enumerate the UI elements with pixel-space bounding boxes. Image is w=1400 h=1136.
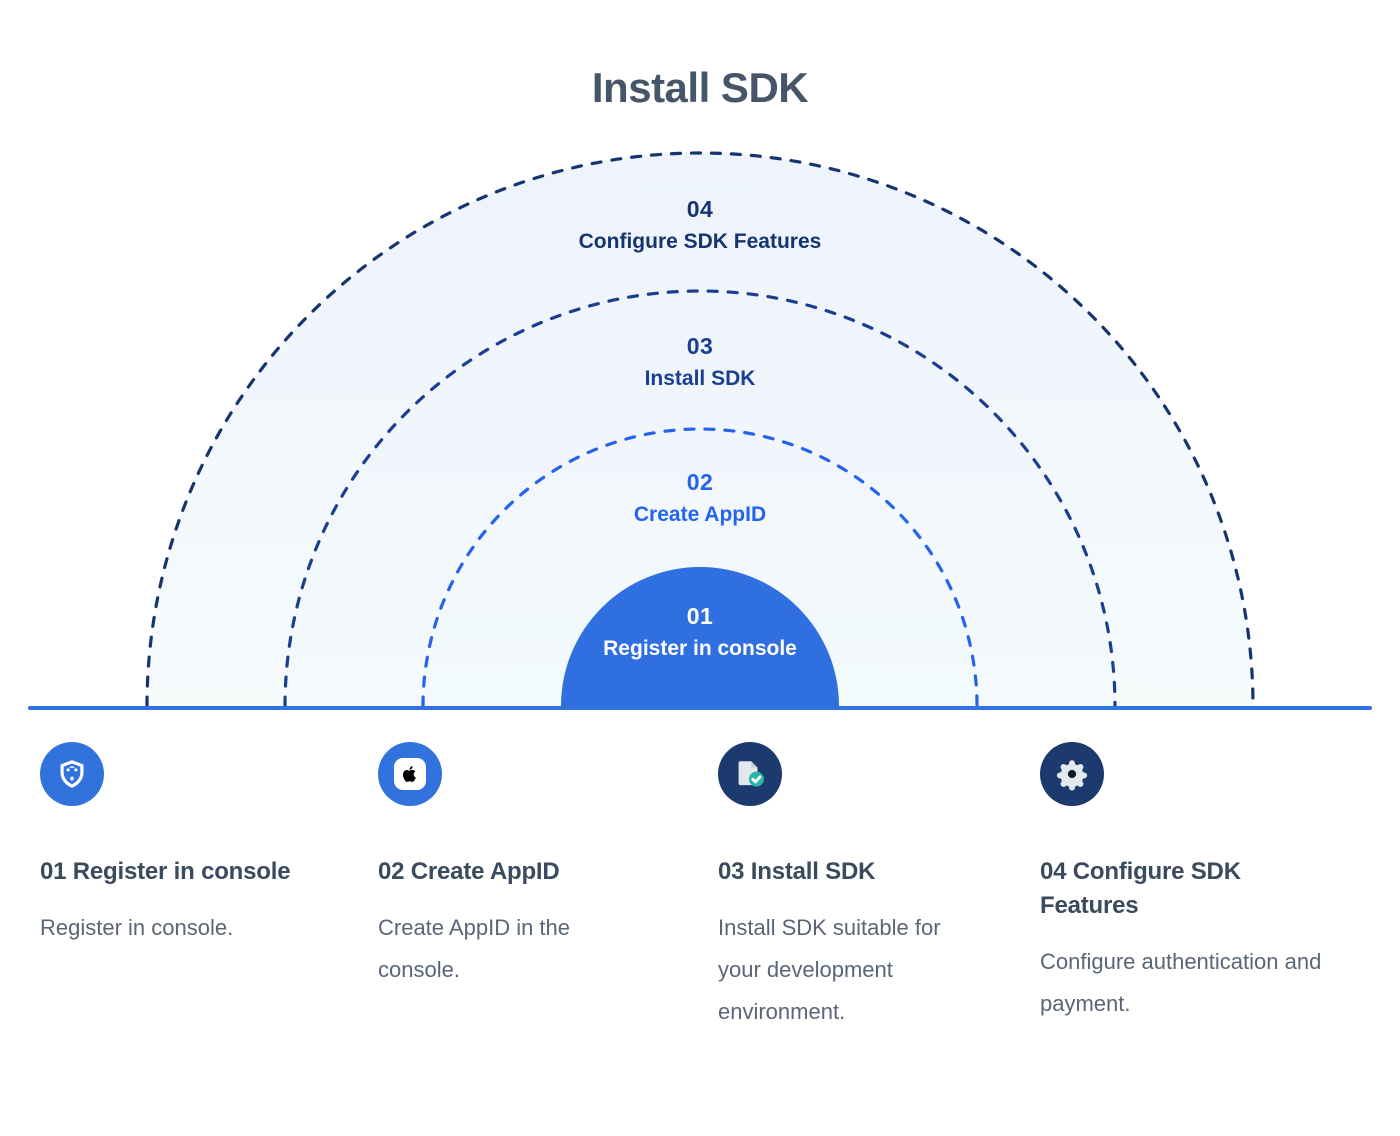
step-card-03-body: Install SDK suitable for your developmen…: [718, 907, 986, 1032]
step-card-02-icon-circle: [378, 742, 442, 806]
step-card-01-body: Register in console.: [40, 907, 306, 949]
arc-label-04-number: 04: [490, 195, 910, 223]
arc-label-02-name: Create AppID: [490, 502, 910, 528]
arc-label-01-name: Register in console: [490, 636, 910, 662]
shield-icon: [55, 757, 89, 791]
gear-icon: [1055, 757, 1089, 791]
arc-label-01: 01 Register in console: [490, 602, 910, 662]
arc-label-03: 03 Install SDK: [490, 332, 910, 392]
apple-icon-plate: [394, 758, 426, 790]
step-card-02: 02 Create AppID Create AppID in the cons…: [340, 742, 680, 1122]
step-card-04: 04 Configure SDK Features Configure auth…: [1020, 742, 1360, 1122]
arc-label-02-number: 02: [490, 468, 910, 496]
step-card-04-body: Configure authentication and payment.: [1040, 941, 1326, 1025]
step-card-04-heading: 04 Configure SDK Features: [1040, 855, 1326, 923]
step-card-03: 03 Install SDK Install SDK suitable for …: [680, 742, 1020, 1122]
arc-label-01-number: 01: [490, 602, 910, 630]
apple-icon: [400, 764, 420, 784]
step-card-04-icon-circle: [1040, 742, 1104, 806]
arc-label-04: 04 Configure SDK Features: [490, 195, 910, 255]
step-cards: 01 Register in console Register in conso…: [0, 742, 1400, 1122]
step-card-02-body: Create AppID in the console.: [378, 907, 646, 991]
arc-diagram: 04 Configure SDK Features 03 Install SDK…: [0, 140, 1400, 715]
step-card-03-heading: 03 Install SDK: [718, 855, 986, 889]
arc-label-03-number: 03: [490, 332, 910, 360]
install-sdk-infographic: Install SDK: [0, 0, 1400, 1136]
step-card-01-icon-circle: [40, 742, 104, 806]
step-card-03-icon-circle: [718, 742, 782, 806]
page-title: Install SDK: [0, 64, 1400, 112]
baseline-divider: [28, 706, 1372, 710]
step-card-02-heading: 02 Create AppID: [378, 855, 646, 889]
arc-label-02: 02 Create AppID: [490, 468, 910, 528]
arc-label-03-name: Install SDK: [490, 366, 910, 392]
arc-label-04-name: Configure SDK Features: [490, 229, 910, 255]
step-card-01-heading: 01 Register in console: [40, 855, 306, 889]
step-card-01: 01 Register in console Register in conso…: [0, 742, 340, 1122]
document-check-icon: [732, 756, 768, 792]
